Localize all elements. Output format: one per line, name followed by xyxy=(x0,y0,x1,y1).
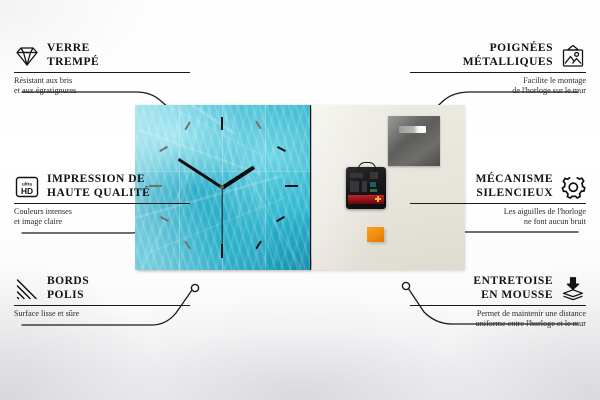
feature-description: Surface lisse et sûre xyxy=(14,309,190,319)
framed-picture-icon xyxy=(560,43,586,69)
endpoint-bords-polis xyxy=(191,284,198,291)
feature-header: ENTRETOISE EN MOUSSE xyxy=(410,275,586,302)
feature-description: Couleurs intenses et image claire xyxy=(14,207,190,227)
clock-hub xyxy=(220,185,224,189)
second-hand xyxy=(221,188,222,246)
feature-header: BORDS POLIS xyxy=(14,275,190,302)
infographic-canvas: VERRE TREMPÉ Résistant aux bris et aux é… xyxy=(0,0,600,400)
feature-title: VERRE TREMPÉ xyxy=(47,42,99,69)
foam-spacer xyxy=(367,227,384,242)
feature-impression-haute-qualite[interactable]: ultra HD IMPRESSION DE HAUTE QUALITÉ Cou… xyxy=(14,173,190,227)
polished-edge-icon xyxy=(14,276,40,302)
feature-header: POIGNÉES MÉTALLIQUES xyxy=(410,42,586,69)
feature-divider xyxy=(410,203,586,204)
feature-title: MÉCANISME SILENCIEUX xyxy=(476,173,553,200)
feature-title: POIGNÉES MÉTALLIQUES xyxy=(463,42,553,69)
feature-poignees-metalliques[interactable]: POIGNÉES MÉTALLIQUES Facilite le montage… xyxy=(410,42,586,96)
feature-entretoise-en-mousse[interactable]: ENTRETOISE EN MOUSSE Permet de maintenir… xyxy=(410,275,586,329)
feature-verre-trempe[interactable]: VERRE TREMPÉ Résistant aux bris et aux é… xyxy=(14,42,190,96)
metal-hanger-plate xyxy=(388,116,440,166)
feature-title: BORDS POLIS xyxy=(47,275,89,302)
feature-divider xyxy=(14,72,190,73)
battery xyxy=(348,195,384,204)
feature-divider xyxy=(14,203,190,204)
feature-title: IMPRESSION DE HAUTE QUALITÉ xyxy=(47,173,150,200)
feature-divider xyxy=(14,305,190,306)
ultra-hd-icon: ultra HD xyxy=(14,174,40,200)
foam-spacer-icon xyxy=(560,276,586,302)
feature-header: ultra HD IMPRESSION DE HAUTE QUALITÉ xyxy=(14,173,190,200)
diamond-icon xyxy=(14,43,40,69)
hanger-slot xyxy=(399,126,426,133)
feature-description: Facilite le montage de l'horloge sur le … xyxy=(410,76,586,96)
feature-title: ENTRETOISE EN MOUSSE xyxy=(473,275,553,302)
feature-description: Résistant aux bris et aux égratignures xyxy=(14,76,190,96)
feature-description: Les aiguilles de l'horloge ne font aucun… xyxy=(410,207,586,227)
mechanism-hanger-loop xyxy=(358,162,376,171)
feature-description: Permet de maintenir une distance uniform… xyxy=(410,309,586,329)
feature-divider xyxy=(410,305,586,306)
endpoint-entretoise xyxy=(402,282,409,289)
svg-text:HD: HD xyxy=(21,186,33,196)
battery-plus-icon xyxy=(375,196,381,202)
feature-bords-polis[interactable]: BORDS POLIS Surface lisse et sûre xyxy=(14,275,190,319)
clock-mechanism xyxy=(346,167,386,209)
gear-icon xyxy=(560,174,586,200)
feature-divider xyxy=(410,72,586,73)
feature-header: VERRE TREMPÉ xyxy=(14,42,190,69)
feature-mecanisme-silencieux[interactable]: MÉCANISME SILENCIEUX Les aiguilles de l'… xyxy=(410,173,586,227)
feature-header: MÉCANISME SILENCIEUX xyxy=(410,173,586,200)
